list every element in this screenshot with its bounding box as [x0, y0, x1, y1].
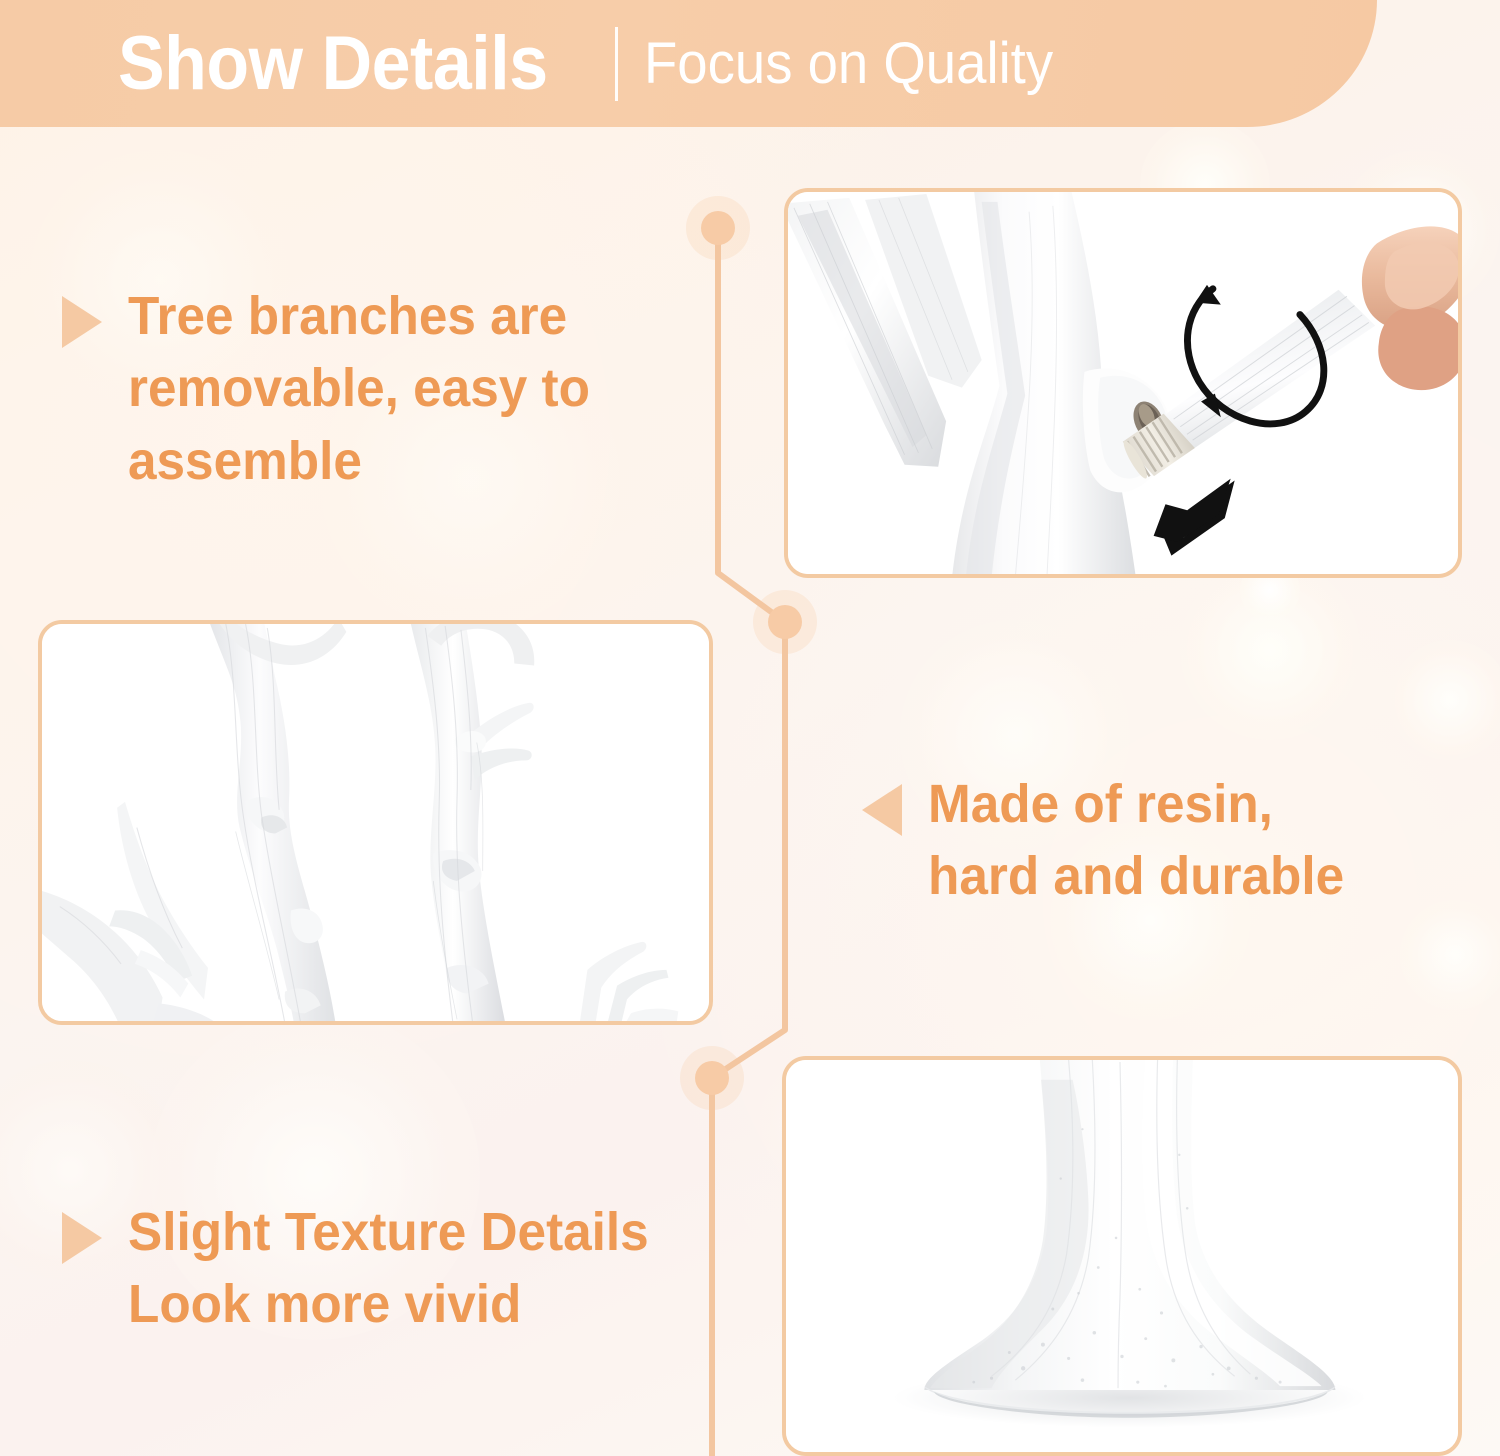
connector-node-glow: [686, 196, 750, 260]
header-banner: Show Details Focus on Quality: [0, 0, 1377, 127]
bokeh-circle: [1180, 560, 1360, 740]
connector-node-glow: [753, 590, 817, 654]
panel-assembly-photo: [784, 188, 1462, 578]
callout-branches: Tree branches are removable, easy to ass…: [62, 280, 722, 497]
callout-resin: Made of resin, hard and durable: [862, 768, 1482, 913]
connector-node: [768, 605, 802, 639]
connector-node-glow: [680, 1046, 744, 1110]
bokeh-circle: [1390, 640, 1500, 760]
callout-resin-text: Made of resin, hard and durable: [928, 768, 1344, 913]
triangle-right-icon: [62, 1212, 102, 1264]
page-title: Show Details: [118, 26, 548, 102]
base-photo-art: [786, 1060, 1458, 1455]
header-divider: [615, 27, 618, 101]
assembly-photo-art: [788, 192, 1458, 577]
header-subtitle: Focus on Quality: [644, 35, 1053, 93]
triangle-left-icon: [862, 784, 902, 836]
callout-texture: Slight Texture Details Look more vivid: [62, 1196, 742, 1341]
connector-node: [701, 211, 735, 245]
product-detail-infographic: Show Details Focus on Quality: [0, 0, 1500, 1456]
branch-texture-art: [42, 624, 709, 1024]
triangle-right-icon: [62, 296, 102, 348]
panel-base-photo: [782, 1056, 1462, 1456]
connector-node: [695, 1061, 729, 1095]
bokeh-circle: [1400, 900, 1500, 1010]
panel-branch-texture-photo: [38, 620, 713, 1025]
callout-texture-text: Slight Texture Details Look more vivid: [128, 1196, 649, 1341]
callout-branches-text: Tree branches are removable, easy to ass…: [128, 280, 590, 497]
